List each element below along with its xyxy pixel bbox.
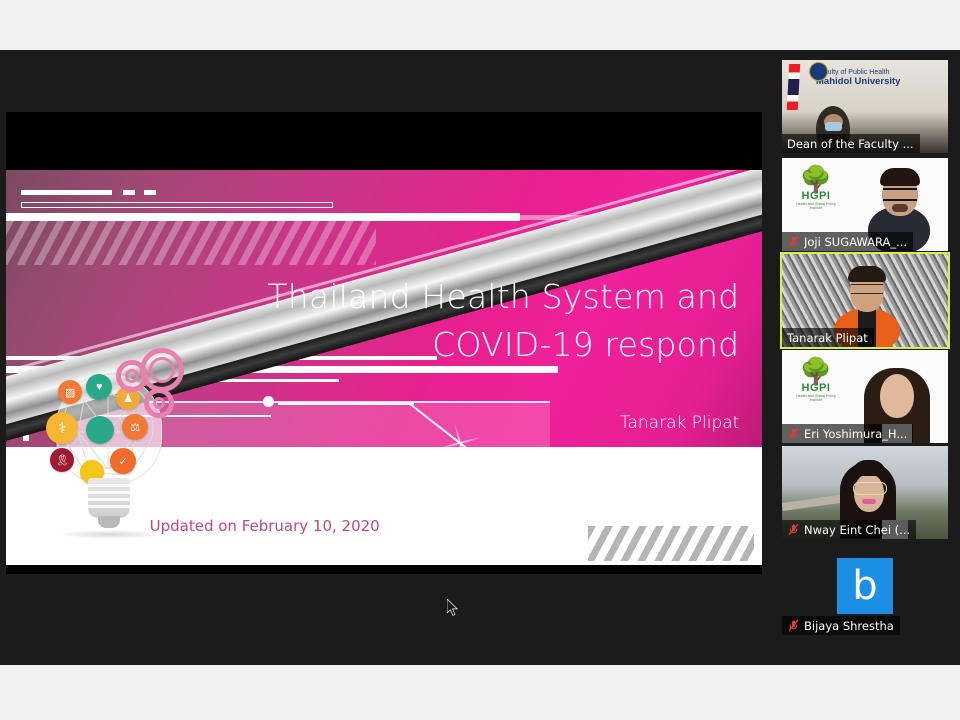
participant-hair <box>848 266 886 282</box>
mahidol-seal-icon <box>809 62 828 81</box>
deco-square-dot <box>23 466 29 472</box>
microphone-muted-icon <box>787 523 800 536</box>
tree-icon: 🌳 <box>791 360 841 382</box>
participant-name-bar: Nway Eint Chei (... <box>782 520 916 539</box>
participant-tile[interactable]: 🌳 HGPI Health and Global Policy Institut… <box>782 158 948 251</box>
eyeglasses-icon <box>851 284 883 294</box>
screen: Thailand Health System and COVID-19 resp… <box>0 0 960 720</box>
presentation-frame: Thailand Health System and COVID-19 resp… <box>6 112 762 574</box>
participant-tile[interactable]: 🌳 HGPI Health and Global Policy Institut… <box>782 350 948 443</box>
deco-square-dot <box>23 450 29 456</box>
participant-name: Eri Yoshimura_H... <box>804 427 907 441</box>
deco-bar-5 <box>6 213 520 221</box>
participant-face <box>880 374 914 418</box>
participant-name: Bijaya Shrestha <box>804 619 894 633</box>
face-mask-icon <box>825 122 842 131</box>
deco-dot-2 <box>263 396 274 407</box>
gear-icon <box>140 348 184 392</box>
presentation-slide: Thailand Health System and COVID-19 resp… <box>6 170 762 565</box>
deco-bar-2 <box>123 190 135 196</box>
avatar: b <box>837 558 893 614</box>
hgpi-logo: 🌳 HGPI Health and Global Policy Institut… <box>791 168 841 210</box>
eyeglasses-icon <box>853 482 887 495</box>
bulb-shadow <box>58 530 162 539</box>
participant-tile[interactable]: Faculty of Public Health Mahidol Univers… <box>782 60 948 153</box>
participant-name-bar: Eri Yoshimura_H... <box>782 424 913 443</box>
hgpi-abbr: HGPI <box>791 190 841 202</box>
banner-line-2: Mahidol University <box>816 76 900 87</box>
lightbulb-graphic: ▨ ♥ ♟ ⚕ ⚖ 🎗 ✓ <box>36 374 186 549</box>
participant-bangs <box>852 460 886 476</box>
participant-lips <box>862 499 876 504</box>
slide-author: Tanarak Plipat <box>620 413 739 433</box>
participant-filmstrip[interactable]: Faculty of Public Health Mahidol Univers… <box>770 50 960 665</box>
slide-title: Thailand Health System and COVID-19 resp… <box>82 273 740 369</box>
participant-beard <box>892 204 908 212</box>
participant-name-bar: Tanarak Plipat <box>782 328 874 347</box>
mouse-pointer-icon <box>447 599 459 617</box>
participant-tile-active-speaker[interactable]: Tanarak Plipat <box>782 254 948 347</box>
bulb-tip <box>98 516 120 528</box>
microphone-muted-icon <box>787 619 800 632</box>
shared-screen-area[interactable]: Thailand Health System and COVID-19 resp… <box>0 50 770 665</box>
participant-name: Nway Eint Chei (... <box>804 523 910 537</box>
participant-name: Tanarak Plipat <box>787 331 868 345</box>
deco-bar-1 <box>21 190 112 196</box>
hgpi-subtitle: Health and Global Policy Institute <box>791 394 841 402</box>
participant-name-bar: Joji SUGAWARA_... <box>782 232 913 251</box>
hatch-stripes-top-left <box>6 221 376 264</box>
deco-bar-3 <box>144 190 156 196</box>
participant-name: Dean of the Faculty ... <box>787 137 914 151</box>
hgpi-logo: 🌳 HGPI Health and Global Policy Institut… <box>791 360 841 402</box>
participant-name-bar: Bijaya Shrestha <box>782 616 900 635</box>
deco-circuit-line <box>486 474 546 476</box>
participant-name-bar: Dean of the Faculty ... <box>782 134 920 153</box>
hatch-stripes-bottom-right <box>588 526 754 562</box>
slide-title-line-1: Thailand Health System and <box>82 273 740 321</box>
thai-flag-icon <box>787 64 800 110</box>
mahidol-banner: Faculty of Public Health Mahidol Univers… <box>816 68 900 87</box>
hgpi-abbr: HGPI <box>791 382 841 394</box>
participant-hair <box>880 168 920 186</box>
participant-tile[interactable]: b Bijaya Shrestha <box>782 542 948 635</box>
participant-name: Joji SUGAWARA_... <box>804 235 907 249</box>
deco-circuit-line <box>278 403 414 405</box>
participant-tile[interactable]: Nway Eint Chei (... <box>782 446 948 539</box>
gear-icon <box>144 388 174 418</box>
tree-icon: 🌳 <box>791 168 841 190</box>
microphone-muted-icon <box>787 427 800 440</box>
zoom-meeting-window: Thailand Health System and COVID-19 resp… <box>0 50 960 665</box>
eyeglasses-icon <box>883 188 917 201</box>
microphone-muted-icon <box>787 235 800 248</box>
deco-outline-bar <box>21 202 333 208</box>
hgpi-subtitle: Health and Global Policy Institute <box>791 202 841 210</box>
bulb-base <box>88 478 130 518</box>
